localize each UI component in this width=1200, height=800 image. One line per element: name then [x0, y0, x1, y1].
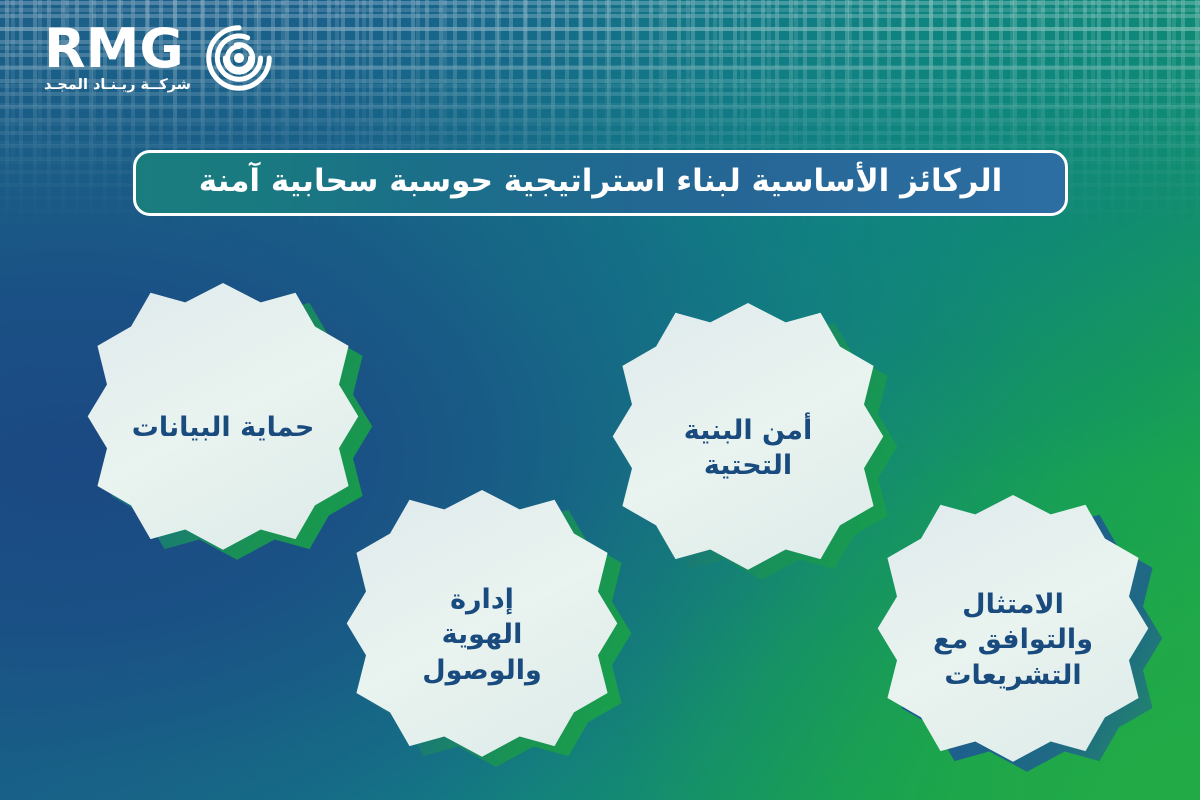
badge-label: إدارة الهوية والوصول [378, 582, 587, 687]
pillar-badge-compliance[interactable]: الامتثال والتوافق مع التشريعات [868, 495, 1158, 785]
title-banner: الركائز الأساسية لبناء استراتيجية حوسبة … [133, 150, 1068, 216]
pillar-badge-data-protection[interactable]: حماية البيانات [78, 283, 368, 573]
badge-label: الامتثال والتوافق مع التشريعات [909, 587, 1118, 692]
brand-logo: RMG شركــة ريـنـاد المجـد [44, 22, 275, 94]
logo-wordmark: RMG [44, 23, 184, 75]
badge-face: الامتثال والتوافق مع التشريعات [868, 495, 1158, 785]
badge-face: أمن البنية التحتية [603, 303, 893, 593]
rmg-spiral-logo-icon [203, 22, 275, 94]
badge-face: إدارة الهوية والوصول [337, 490, 627, 780]
badge-label: حماية البيانات [119, 410, 328, 445]
infographic-canvas: RMG شركــة ريـنـاد المجـد الركائز الأساس… [0, 0, 1200, 800]
pillar-badge-identity-access[interactable]: إدارة الهوية والوصول [337, 490, 627, 780]
badge-face: حماية البيانات [78, 283, 368, 573]
badge-label: أمن البنية التحتية [644, 413, 853, 483]
pillar-badge-infrastructure-security[interactable]: أمن البنية التحتية [603, 303, 893, 593]
page-title: الركائز الأساسية لبناء استراتيجية حوسبة … [199, 166, 1002, 201]
logo-arabic-name: شركــة ريـنـاد المجـد [44, 77, 191, 93]
